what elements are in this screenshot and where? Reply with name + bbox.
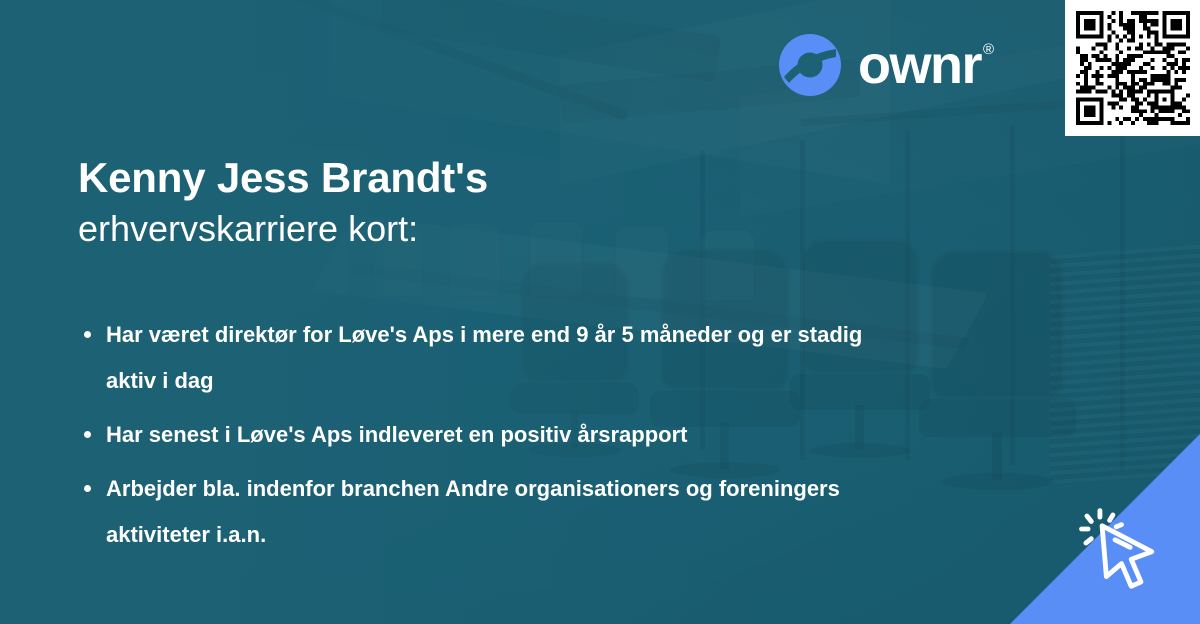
- page-title-line-2: erhvervskarriere kort:: [78, 204, 488, 254]
- ownr-circle-swirl-icon: [778, 33, 842, 97]
- page-title: Kenny Jess Brandt's erhvervskarriere kor…: [78, 152, 488, 254]
- qr-code-panel[interactable]: [1065, 0, 1200, 136]
- bullet-dot-icon: [84, 485, 91, 492]
- card-content: ownr ® Kenny Jess Brandt's erhvervskarri…: [0, 0, 1200, 624]
- career-highlights-list: Har været direktør for Løve's Aps i mere…: [80, 312, 920, 566]
- list-item: Arbejder bla. indenfor branchen Andre or…: [80, 466, 920, 558]
- page-title-line-1: Kenny Jess Brandt's: [78, 152, 488, 204]
- list-item-text: Har været direktør for Løve's Aps i mere…: [106, 312, 896, 404]
- ownr-wordmark: ownr ®: [858, 38, 994, 92]
- list-item-text: Arbejder bla. indenfor branchen Andre or…: [106, 466, 896, 558]
- list-item-text: Har senest i Løve's Aps indleveret en po…: [106, 412, 896, 458]
- call-to-action-corner[interactable]: [1010, 434, 1200, 624]
- click-cursor-icon: [1074, 502, 1182, 610]
- bullet-dot-icon: [84, 331, 91, 338]
- qr-code-icon: [1076, 11, 1190, 125]
- list-item: Har senest i Løve's Aps indleveret en po…: [80, 412, 920, 458]
- list-item: Har været direktør for Løve's Aps i mere…: [80, 312, 920, 404]
- bullet-dot-icon: [84, 431, 91, 438]
- ownr-logo[interactable]: ownr ®: [778, 33, 994, 97]
- business-career-card: ownr ® Kenny Jess Brandt's erhvervskarri…: [0, 0, 1200, 624]
- registered-trademark-symbol: ®: [983, 40, 994, 60]
- ownr-wordmark-text: ownr: [858, 38, 981, 92]
